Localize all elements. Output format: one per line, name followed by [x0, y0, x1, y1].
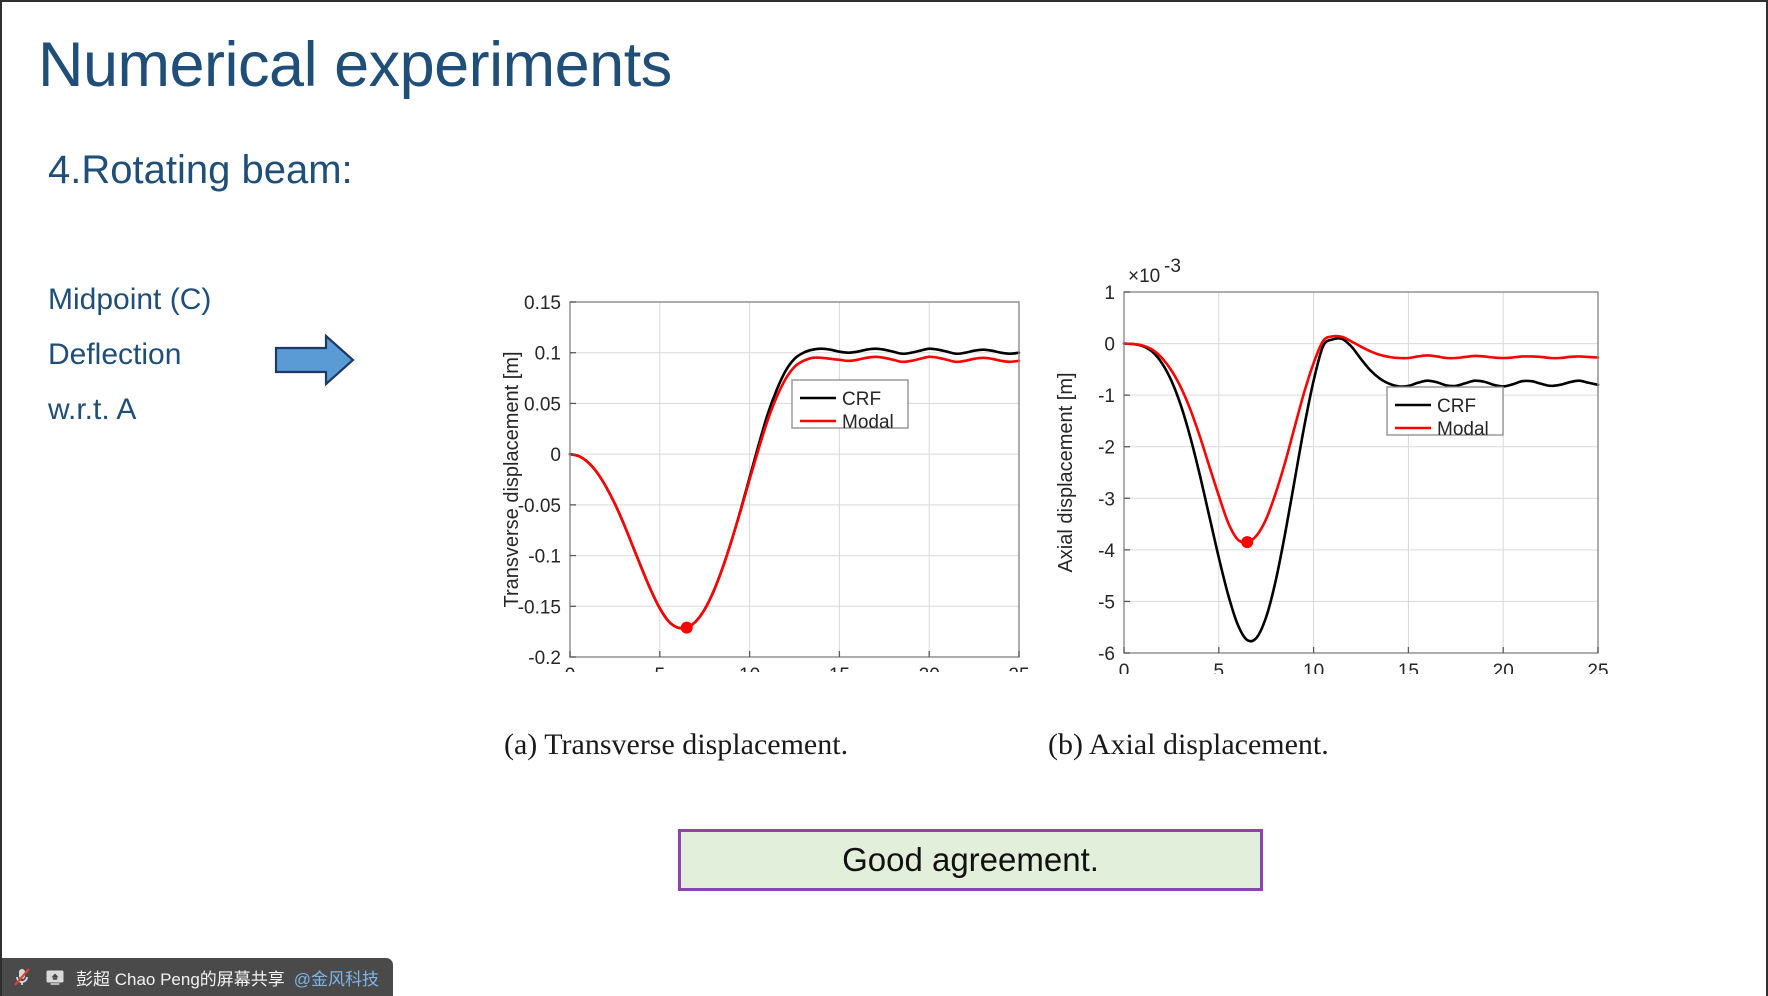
svg-text:-0.15: -0.15	[518, 597, 561, 618]
svg-text:Modal: Modal	[842, 412, 894, 433]
svg-text:10: 10	[1303, 661, 1324, 674]
share-org-label: @金风科技	[294, 965, 379, 990]
right-arrow-icon	[274, 332, 356, 388]
svg-text:-4: -4	[1098, 541, 1115, 562]
note-line-wrt: w.r.t. A	[48, 395, 378, 425]
svg-text:1: 1	[1104, 283, 1115, 304]
screen-share-bar: 彭超 Chao Peng的屏幕共享 @金风科技	[2, 958, 393, 996]
figure-caption-b: (b) Axial displacement.	[1048, 728, 1329, 762]
screen-share-icon[interactable]	[43, 965, 67, 989]
svg-text:5: 5	[1214, 661, 1225, 674]
svg-text:-5: -5	[1098, 592, 1115, 613]
svg-text:25: 25	[1587, 661, 1608, 674]
svg-text:15: 15	[1398, 661, 1419, 674]
svg-text:5: 5	[655, 665, 666, 672]
svg-text:-2: -2	[1098, 438, 1115, 459]
svg-text:0: 0	[1104, 335, 1115, 356]
chart-transverse-displacement: 0510152025-0.2-0.15-0.1-0.0500.050.10.15…	[432, 252, 1032, 672]
svg-text:0: 0	[565, 665, 576, 672]
page-title: Numerical experiments	[38, 32, 672, 98]
conclusion-text: Good agreement.	[842, 841, 1099, 879]
svg-text:CRF: CRF	[842, 389, 881, 410]
svg-text:Axial displacement [m]: Axial displacement [m]	[1055, 372, 1077, 572]
svg-text:Transverse displacement [m]: Transverse displacement [m]	[501, 351, 523, 607]
svg-text:0.15: 0.15	[524, 293, 561, 314]
svg-text:20: 20	[1493, 661, 1514, 674]
svg-text:×10: ×10	[1128, 266, 1160, 287]
svg-text:-1: -1	[1098, 386, 1115, 407]
svg-text:0.1: 0.1	[535, 344, 561, 365]
conclusion-box: Good agreement.	[678, 829, 1263, 891]
svg-text:0.05: 0.05	[524, 394, 561, 415]
svg-text:-0.05: -0.05	[518, 496, 561, 517]
figure-caption-a: (a) Transverse displacement.	[504, 728, 848, 762]
share-label: 彭超 Chao Peng的屏幕共享	[76, 965, 285, 990]
figure-transverse-displacement: 0510152025-0.2-0.15-0.1-0.0500.050.10.15…	[432, 252, 1032, 672]
svg-text:0: 0	[550, 445, 561, 466]
svg-text:CRF: CRF	[1437, 396, 1476, 417]
svg-text:Modal: Modal	[1437, 419, 1489, 440]
note-line-midpoint: Midpoint (C)	[48, 285, 378, 315]
svg-text:-6: -6	[1098, 644, 1115, 665]
chart-axial-displacement: 0510152025-6-5-4-3-2-101Time [s]Axial di…	[1042, 224, 1622, 674]
svg-text:-3: -3	[1164, 256, 1181, 277]
figure-axial-displacement: 0510152025-6-5-4-3-2-101Time [s]Axial di…	[1042, 224, 1622, 674]
svg-text:0: 0	[1119, 661, 1130, 674]
svg-text:20: 20	[919, 665, 940, 672]
svg-text:-0.2: -0.2	[528, 648, 561, 669]
presentation-slide: Numerical experiments 4.Rotating beam: M…	[0, 0, 1768, 996]
svg-text:15: 15	[829, 665, 850, 672]
section-heading: 4.Rotating beam:	[48, 148, 353, 193]
svg-text:-0.1: -0.1	[528, 547, 561, 568]
svg-text:-3: -3	[1098, 489, 1115, 510]
svg-text:25: 25	[1008, 665, 1029, 672]
svg-text:10: 10	[739, 665, 760, 672]
mic-muted-icon[interactable]	[10, 965, 34, 989]
